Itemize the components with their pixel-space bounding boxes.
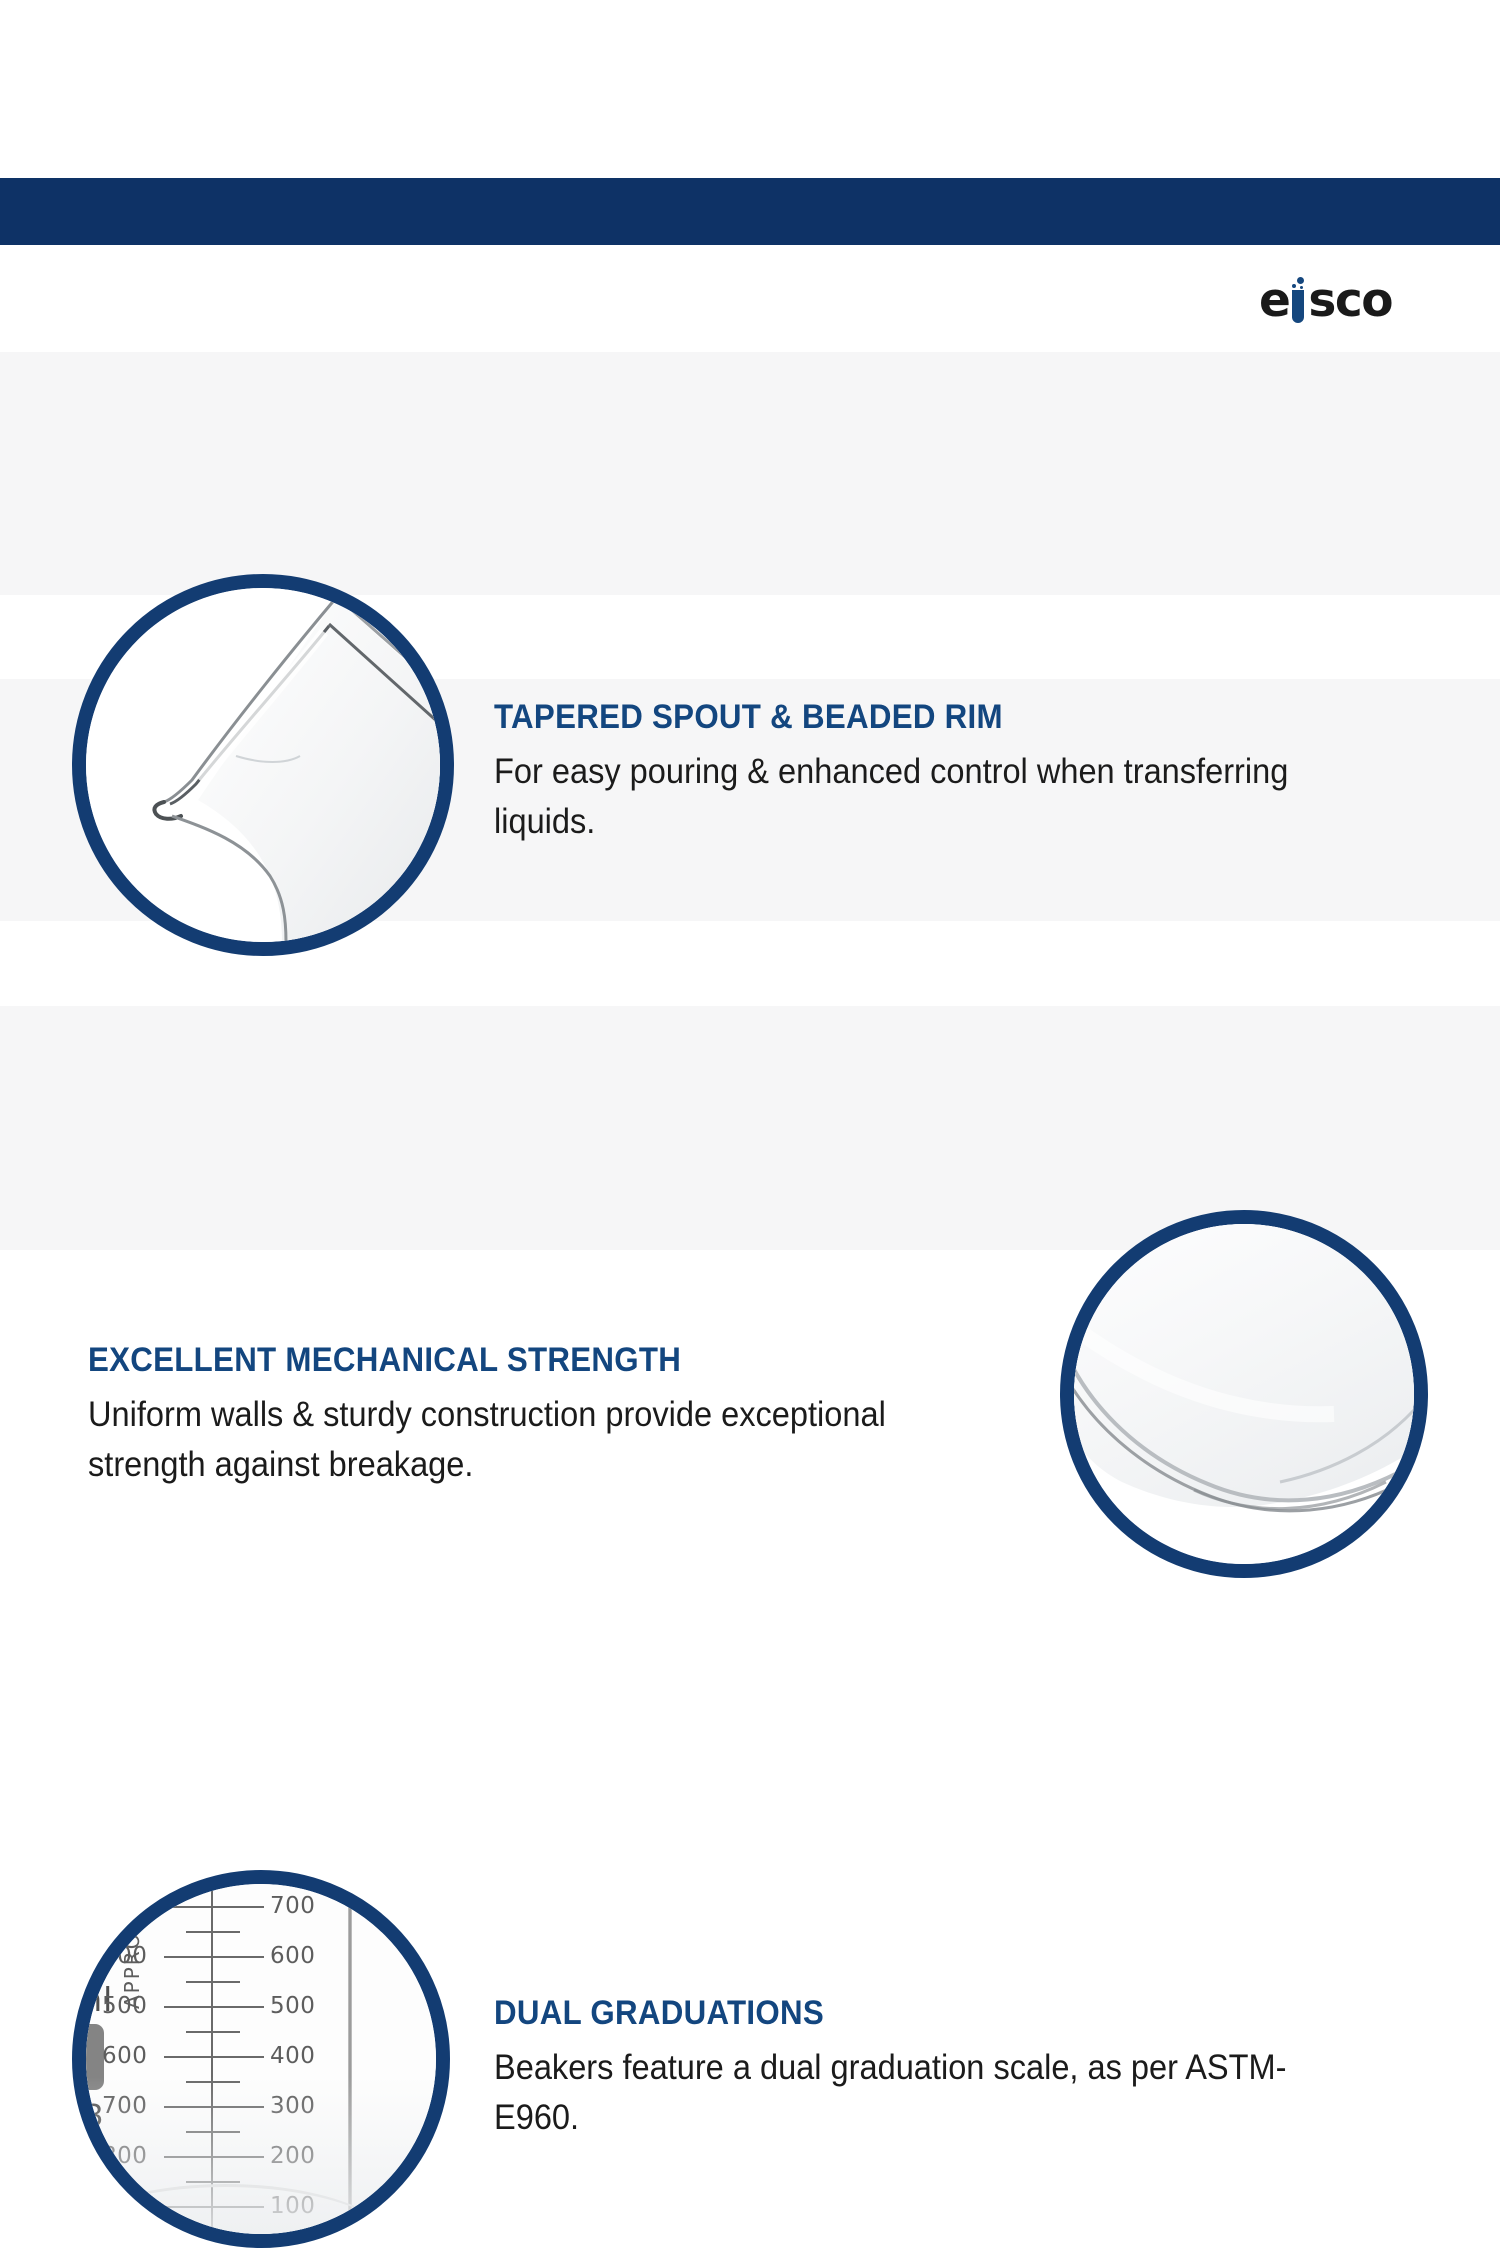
feature-heading: DUAL GRADUATIONS xyxy=(494,1993,1340,2033)
feature-row-dual-graduations: ml .3 APPROX. VOL. 300700400600500500600… xyxy=(0,935,1500,1315)
bubble-icon xyxy=(1297,277,1304,284)
feature-row-mechanical-strength: EXCELLENT MECHANICAL STRENGTH Uniform wa… xyxy=(0,605,1500,977)
graduation-scale-artwork: ml .3 APPROX. VOL. 300700400600500500600… xyxy=(86,1884,436,2234)
glass-haze-overlay xyxy=(86,1884,436,2234)
feature-body: Beakers feature a dual graduation scale,… xyxy=(494,2043,1350,2143)
photo-dual-graduations: ml .3 APPROX. VOL. 300700400600500500600… xyxy=(72,1870,450,2248)
feature-text-dual-graduations: DUAL GRADUATIONS Beakers feature a dual … xyxy=(494,1993,1414,2143)
feature-text-mechanical-strength: EXCELLENT MECHANICAL STRENGTH Uniform wa… xyxy=(88,1340,1018,1490)
feature-body: Uniform walls & sturdy construction prov… xyxy=(88,1390,953,1490)
header-bar xyxy=(0,178,1500,245)
feature-heading: EXCELLENT MECHANICAL STRENGTH xyxy=(88,1340,944,1380)
